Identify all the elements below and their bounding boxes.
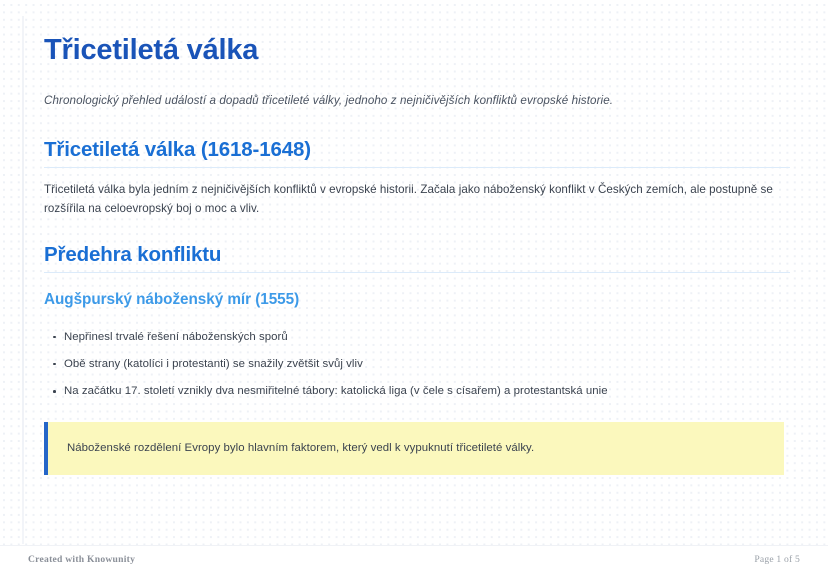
list-item: Na začátku 17. století vznikly dva nesmi… xyxy=(44,373,790,400)
list-item: Nepřinesl trvalé řešení náboženských spo… xyxy=(44,319,790,346)
document-content: Třicetiletá válka Chronologický přehled … xyxy=(44,0,790,542)
footer-brand-label: Created with Knowunity xyxy=(28,554,135,565)
list-item: Obě strany (katolíci i protestanti) se s… xyxy=(44,346,790,373)
section-heading-war: Třicetiletá válka (1618-1648) xyxy=(44,110,790,168)
subsection-heading-augsburg-peace: Augšpurský náboženský mír (1555) xyxy=(44,273,790,309)
footer-inner: Created with Knowunity Page 1 of 5 xyxy=(28,554,800,565)
section-heading-prelude: Předehra konfliktu xyxy=(44,219,790,273)
page-footer: Created with Knowunity Page 1 of 5 xyxy=(0,545,828,586)
page-title: Třicetiletá válka xyxy=(44,0,790,67)
document-page: Třicetiletá válka Chronologický přehled … xyxy=(0,0,828,586)
page-subtitle: Chronologický přehled událostí a dopadů … xyxy=(44,67,790,110)
section-paragraph-war: Třicetiletá válka byla jedním z nejničiv… xyxy=(44,168,790,219)
callout-text: Náboženské rozdělení Evropy bylo hlavním… xyxy=(67,440,534,457)
bullet-list-prelude: Nepřinesl trvalé řešení náboženských spo… xyxy=(44,309,790,400)
left-margin-rule xyxy=(22,16,24,544)
footer-page-number: Page 1 of 5 xyxy=(754,554,800,565)
callout-box: Náboženské rozdělení Evropy bylo hlavním… xyxy=(44,422,784,475)
